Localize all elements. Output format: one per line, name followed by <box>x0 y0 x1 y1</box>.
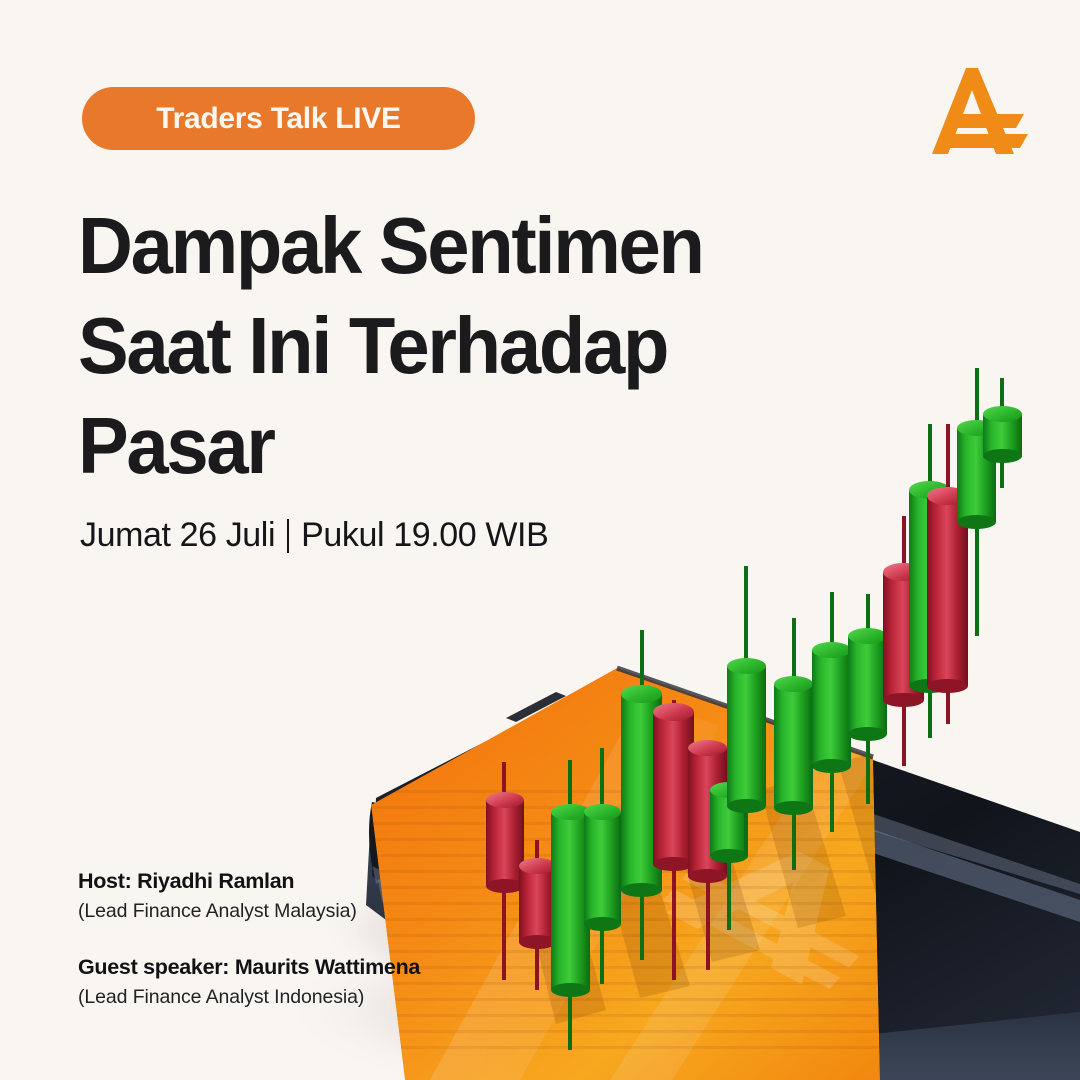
page-title: Dampak Sentimen Saat Ini Terhadap Pasar <box>78 196 818 496</box>
poster-canvas: Traders Talk LIVE Dampak Sentimen Saat I… <box>0 0 1080 1080</box>
live-badge-label: Traders Talk LIVE <box>156 102 400 136</box>
headline-line-3: Pasar <box>78 396 781 496</box>
schedule-time: Pukul 19.00 WIB <box>301 516 548 555</box>
headline-line-2: Saat Ini Terhadap <box>78 296 781 396</box>
host-name: Host: Riyadhi Ramlan <box>78 866 420 896</box>
schedule-date: Jumat 26 Juli <box>80 516 275 555</box>
guest-entry: Guest speaker: Maurits Wattimena (Lead F… <box>78 952 420 1012</box>
schedule-line: Jumat 26 Juli Pukul 19.00 WIB <box>80 516 548 555</box>
host-entry: Host: Riyadhi Ramlan (Lead Finance Analy… <box>78 866 420 926</box>
anugerah-a-logo-icon <box>932 62 1028 162</box>
guest-name: Guest speaker: Maurits Wattimena <box>78 952 420 982</box>
host-role: (Lead Finance Analyst Malaysia) <box>78 896 420 926</box>
live-badge: Traders Talk LIVE <box>82 87 475 150</box>
schedule-separator <box>287 519 289 553</box>
speakers-block: Host: Riyadhi Ramlan (Lead Finance Analy… <box>78 866 420 1012</box>
guest-role: (Lead Finance Analyst Indonesia) <box>78 982 420 1012</box>
headline-line-1: Dampak Sentimen <box>78 196 781 296</box>
